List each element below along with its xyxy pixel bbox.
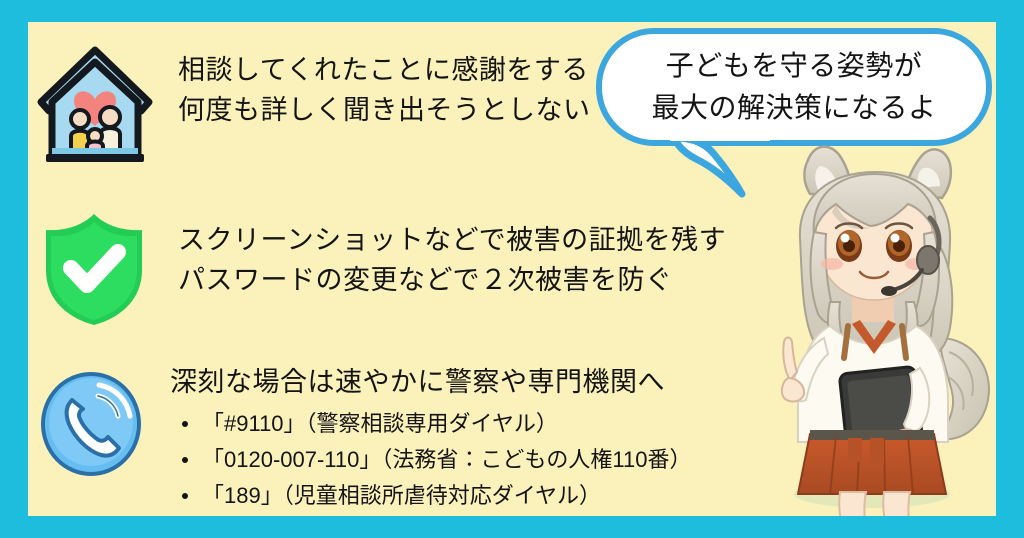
- house-family-heart-icon: [36, 44, 154, 171]
- speech-bubble: 子どもを守る姿勢が 最大の解決策になるよ: [596, 28, 992, 146]
- advice-text-shield: スクリーンショットなどで被害の証拠を残す パスワードの変更などで２次被害を防ぐ: [178, 220, 726, 300]
- advice-row-shield: スクリーンショットなどで被害の証拠を残す パスワードの変更などで２次被害を防ぐ: [38, 210, 726, 333]
- advice-line: スクリーンショットなどで被害の証拠を残す: [178, 220, 726, 260]
- speech-bubble-line: 最大の解決策になるよ: [651, 87, 936, 129]
- list-item: 「#9110」（警察相談専用ダイヤル）: [180, 406, 691, 442]
- advice-line: 相談してくれたことに感謝をする: [178, 50, 591, 90]
- advice-text-phone: 深刻な場合は速やかに警察や専門機関へ 「#9110」（警察相談専用ダイヤル） 「…: [146, 362, 691, 514]
- infographic-root: 相談してくれたことに感謝をする 何度も詳しく聞き出そうとしない スクリーンショッ…: [0, 0, 1024, 538]
- advice-line: パスワードの変更などで２次被害を防ぐ: [178, 260, 726, 300]
- shield-check-icon: [38, 210, 150, 333]
- advice-text-house: 相談してくれたことに感謝をする 何度も詳しく聞き出そうとしない: [178, 50, 591, 130]
- list-item: 「0120-007-110」（法務省：こどもの人権110番）: [180, 442, 691, 478]
- content-panel: 相談してくれたことに感謝をする 何度も詳しく聞き出そうとしない スクリーンショッ…: [28, 22, 996, 516]
- advice-row-house: 相談してくれたことに感謝をする 何度も詳しく聞き出そうとしない: [36, 44, 591, 171]
- advice-row-phone: 深刻な場合は速やかに警察や専門機関へ 「#9110」（警察相談専用ダイヤル） 「…: [36, 362, 691, 514]
- advice-line: 何度も詳しく聞き出そうとしない: [178, 90, 591, 130]
- advice-line: 深刻な場合は速やかに警察や専門機関へ: [170, 362, 691, 402]
- hotline-list: 「#9110」（警察相談専用ダイヤル） 「0120-007-110」（法務省：こ…: [146, 406, 691, 514]
- fox-girl-character-illustration: [744, 142, 996, 516]
- advice-heading-phone: 深刻な場合は速やかに警察や専門機関へ: [170, 362, 691, 402]
- speech-bubble-line: 子どもを守る姿勢が: [666, 45, 923, 87]
- list-item: 「189」（児童相談所虐待対応ダイヤル）: [180, 478, 691, 514]
- phone-ringing-icon: [36, 362, 146, 482]
